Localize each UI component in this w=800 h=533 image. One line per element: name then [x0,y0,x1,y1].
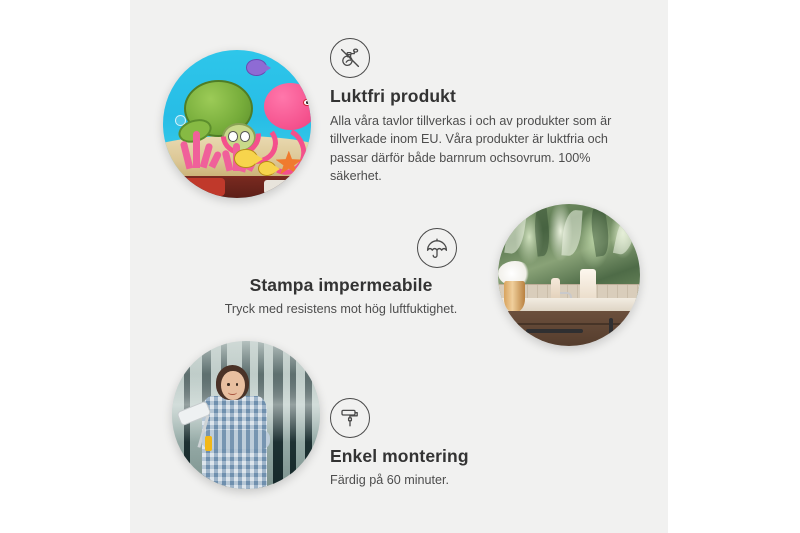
leaf-motif [588,204,612,257]
umbrella-icon [417,228,457,268]
promo-graphic: Luktfri produkt Alla våra tavlor tillver… [0,0,800,533]
drawer-handle [526,329,583,333]
gold-vase [504,281,525,312]
face [221,371,245,401]
purple-fish [246,59,267,76]
cabinet-handle [609,318,613,346]
vanity-seam [507,323,640,325]
octopus-eye [303,99,311,107]
eye [236,383,239,386]
feature-title: Enkel montering [330,446,560,467]
coral [181,130,219,168]
woman-paint-roller-forest-photo [172,341,320,489]
feature-title: Luktfri produkt [330,86,618,107]
leaf-motif [562,209,584,257]
paint-roller-icon [330,398,370,438]
octopus-head [264,83,311,130]
feature-title: Stampa impermeabile [212,275,470,296]
feature-block-waterproof: Stampa impermeabile Tryck med resistens … [212,228,470,318]
underwater-cartoon-photo [163,50,311,198]
feature-block-odourless: Luktfri produkt Alla våra tavlor tillver… [330,38,618,185]
roller-grip [205,436,212,451]
no-odor-spray-bottle-icon [330,38,370,78]
bathroom-scene [498,204,640,346]
wooden-vanity [507,311,640,347]
bathroom-botanical-wallpaper-photo [498,204,640,346]
forest-mural-scene [172,341,320,489]
cabinet-handle [637,318,640,346]
yellow-fish [258,161,276,176]
feature-description: Färdig på 60 minuter. [330,471,560,489]
leaf-motif [532,205,551,256]
feature-description: Tryck med resistens mot hög luftfuktighe… [212,300,470,318]
leaf-motif [504,211,527,255]
leaf-motif [613,212,638,255]
feature-block-easy-assembly: Enkel montering Färdig på 60 minuter. [330,398,560,489]
seabed-band [163,176,311,198]
underwater-scene [163,50,311,198]
eye [227,383,230,386]
feature-description: Alla våra tavlor tillverkas i och av pro… [330,112,618,185]
